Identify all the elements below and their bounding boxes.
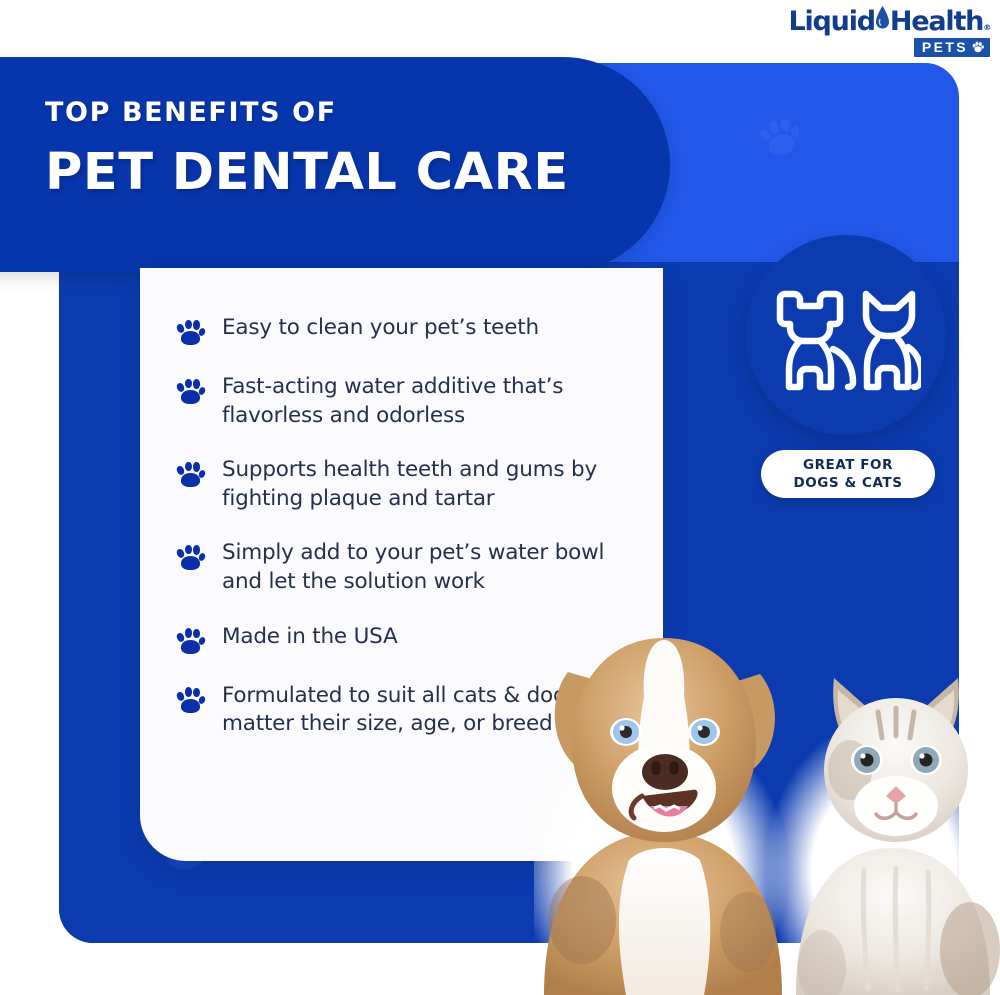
brand-pets-badge: PETS: [914, 38, 990, 57]
benefit-text: Simply add to your pet’s water bowl and …: [222, 539, 628, 596]
header-text-group: TOP BENEFITS OF PET DENTAL CARE: [45, 99, 569, 200]
brand-pets-label: PETS: [922, 40, 968, 55]
dog-and-cat-icon-circle: [746, 235, 946, 435]
page-title: PET DENTAL CARE: [45, 146, 569, 200]
brand-wordmark: Liquid Health ®: [788, 4, 990, 35]
paw-icon: [176, 318, 205, 347]
paw-icon: [176, 377, 205, 406]
list-item: Fast-acting water additive that’s flavor…: [176, 373, 628, 430]
dog-and-cat-photo: [534, 620, 1000, 995]
infographic-canvas: TOP BENEFITS OF PET DENTAL CARE Easy to …: [0, 0, 1000, 995]
badge-line-2: DOGS & CATS: [794, 474, 903, 492]
pets-photo-illustration: [534, 620, 1000, 995]
list-item: Supports health teeth and gums by fighti…: [176, 456, 628, 513]
brand-name-part2: Health: [890, 8, 983, 35]
paw-icon: [176, 627, 205, 656]
list-item: Easy to clean your pet’s teeth: [176, 314, 628, 347]
benefit-text: Easy to clean your pet’s teeth: [222, 314, 539, 343]
list-item: Simply add to your pet’s water bowl and …: [176, 539, 628, 596]
paw-watermark: [754, 112, 804, 162]
paw-icon: [176, 543, 205, 572]
paw-icon: [972, 41, 984, 53]
trademark-symbol: ®: [983, 24, 990, 32]
brand-logo[interactable]: Liquid Health ® PETS: [814, 4, 990, 54]
brand-name-part1: Liquid: [788, 8, 874, 35]
benefit-text: Made in the USA: [222, 623, 397, 652]
water-drop-icon: [875, 4, 890, 30]
benefit-text: Supports health teeth and gums by fighti…: [222, 456, 628, 513]
badge-line-1: GREAT FOR: [803, 456, 893, 474]
eyebrow-text: TOP BENEFITS OF: [45, 99, 569, 126]
benefit-text: Fast-acting water additive that’s flavor…: [222, 373, 628, 430]
status-badge: GREAT FOR DOGS & CATS: [761, 450, 935, 498]
paw-icon: [176, 460, 205, 489]
dog-and-cat-icon: [771, 277, 921, 393]
paw-icon: [176, 686, 205, 715]
